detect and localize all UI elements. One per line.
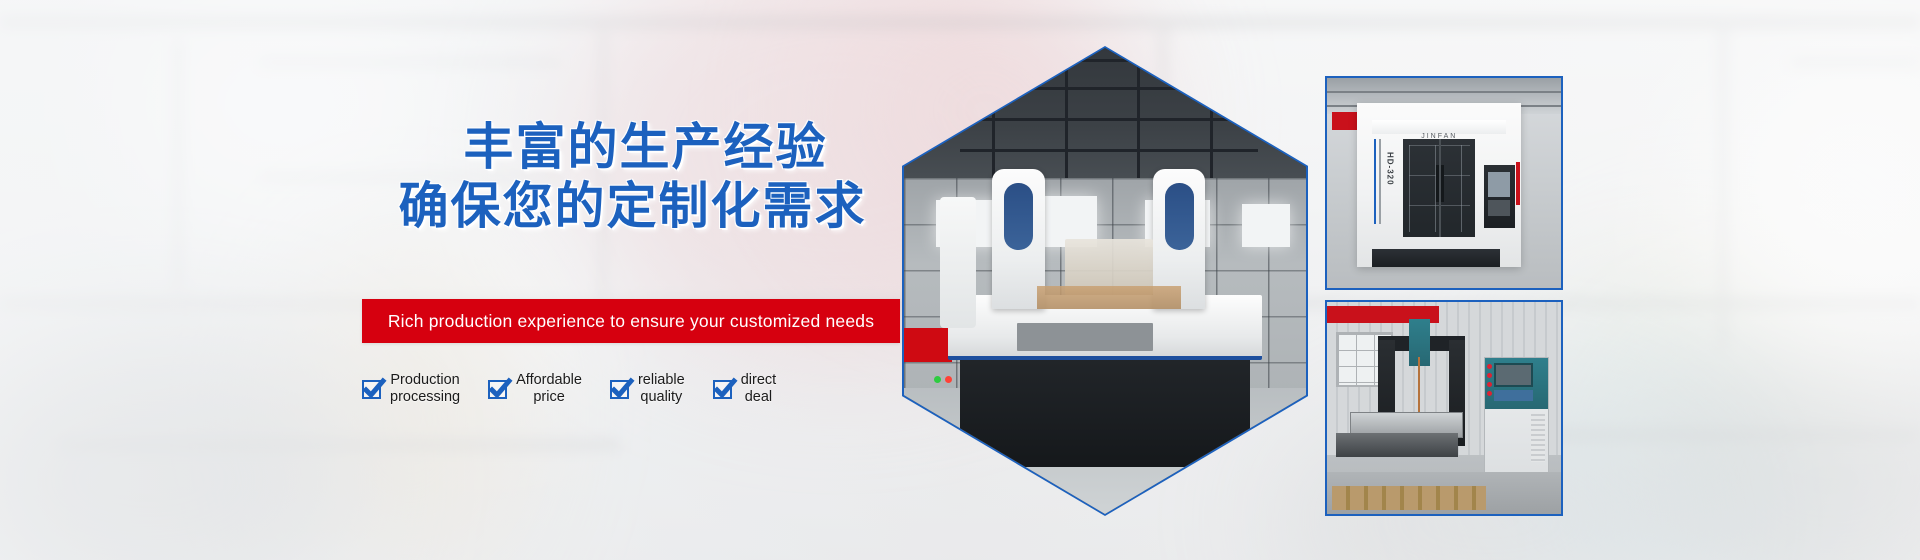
thumb-edm-machine[interactable] — [1325, 300, 1563, 516]
edm-machine-photo — [1327, 302, 1561, 514]
machine-door — [1403, 139, 1475, 237]
hexagon-photo-content — [904, 48, 1306, 514]
machine-control-panel — [1484, 165, 1515, 227]
checkbox-checked-icon[interactable] — [362, 380, 381, 399]
machine-body: JINFAN HD-320 — [1357, 103, 1521, 267]
machine-indicator-lights — [934, 376, 956, 384]
subtitle-text: Rich production experience to ensure you… — [388, 311, 874, 332]
feature-label: Production processing — [390, 372, 460, 406]
machine-bed-slot — [1017, 323, 1154, 351]
feature-label: reliable quality — [638, 372, 685, 406]
checkbox-checked-icon[interactable] — [610, 380, 629, 399]
machine-model-label: HD-320 — [1385, 152, 1394, 186]
machine-base — [960, 346, 1249, 467]
feature-item-production-processing[interactable]: Production processing — [362, 372, 460, 406]
machine-boxes — [1037, 286, 1182, 309]
feature-label: Affordable price — [516, 372, 582, 406]
headline-line-2: 确保您的定制化需求 — [360, 177, 905, 236]
workshop-roof — [904, 48, 1306, 188]
feature-item-direct-deal[interactable]: direct deal — [713, 372, 776, 406]
feature-item-affordable-price[interactable]: Affordable price — [488, 372, 582, 406]
checkbox-checked-icon[interactable] — [713, 380, 732, 399]
headline-block: 丰富的生产经验 确保您的定制化需求 — [360, 118, 905, 236]
machining-center-photo: JINFAN HD-320 — [1327, 78, 1561, 288]
promotional-banner: 丰富的生产经验 确保您的定制化需求 Rich production experi… — [0, 0, 1920, 560]
feature-item-reliable-quality[interactable]: reliable quality — [610, 372, 685, 406]
feature-list: Production processing Affordable price r… — [362, 372, 907, 406]
hexagon-machine-photo[interactable] — [902, 46, 1308, 516]
edm-wire — [1418, 357, 1420, 416]
workshop-red-banner — [904, 328, 952, 362]
subtitle-red-bar: Rich production experience to ensure you… — [362, 299, 900, 343]
headline-line-1: 丰富的生产经验 — [386, 118, 905, 177]
workshop-scene — [904, 48, 1306, 514]
thumb-machining-center[interactable]: JINFAN HD-320 — [1325, 76, 1563, 290]
wooden-pallet — [1332, 486, 1486, 509]
control-cabinet — [1484, 357, 1550, 480]
checkbox-checked-icon[interactable] — [488, 380, 507, 399]
feature-label: direct deal — [741, 372, 776, 406]
machine-table — [1336, 433, 1458, 456]
machine-tower — [940, 197, 976, 327]
